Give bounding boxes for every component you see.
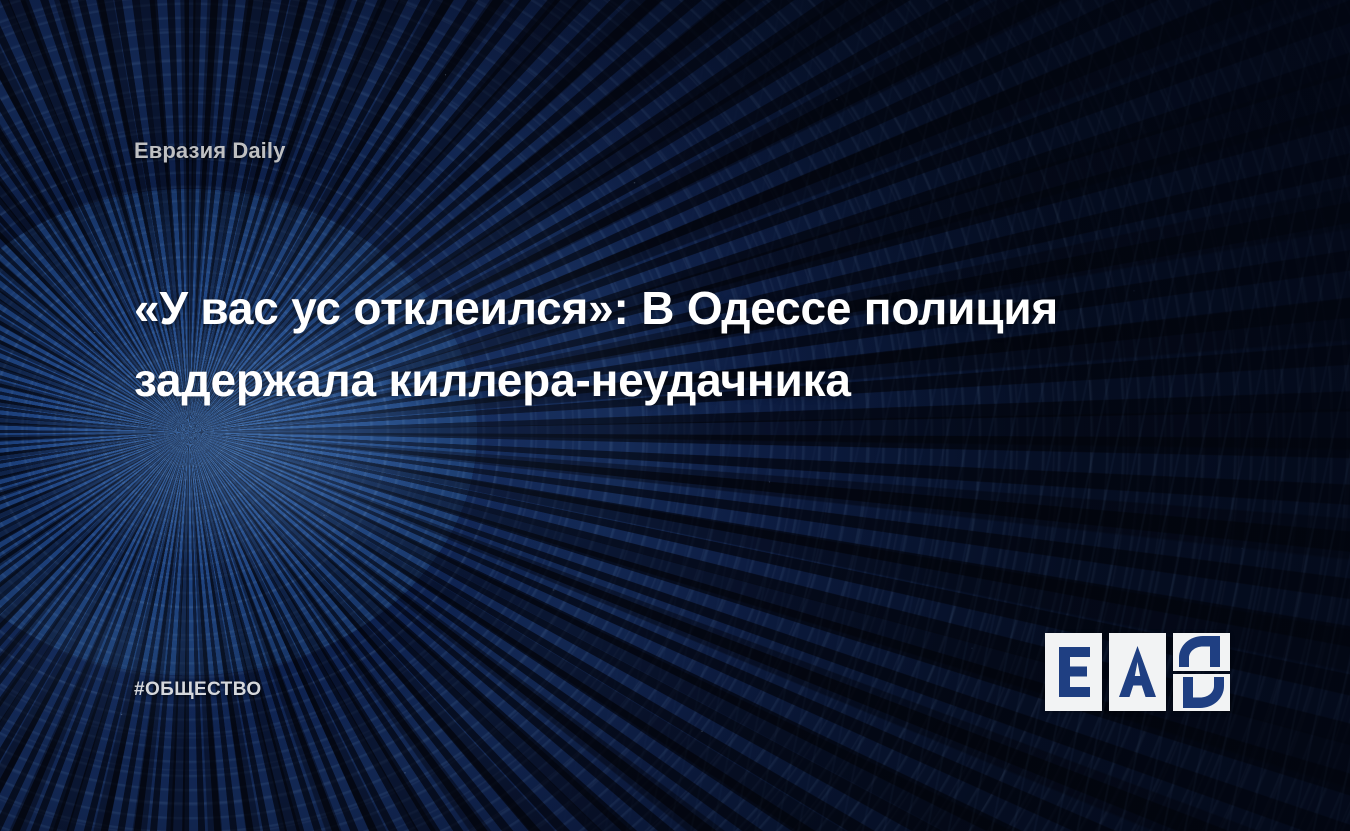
- letter-e-icon: [1045, 633, 1102, 711]
- letter-d-mirrored-icon: [1173, 633, 1230, 670]
- logo-tile-e: [1045, 633, 1102, 711]
- logo-tile-d-bottom: [1173, 674, 1230, 712]
- category-tag: #ОБЩЕСТВО: [134, 679, 262, 701]
- brand-name: Евразия Daily: [134, 138, 285, 164]
- news-card: Евразия Daily «У вас ус отклеился»: В Од…: [0, 0, 1350, 831]
- ead-logo: [1045, 633, 1230, 711]
- logo-tile-d-top: [1173, 633, 1230, 671]
- letter-d-rotated-icon: [1173, 674, 1230, 711]
- letter-a-icon: [1109, 633, 1166, 711]
- article-headline: «У вас ус отклеился»: В Одессе полиция з…: [134, 272, 1214, 416]
- logo-tile-d-stack: [1173, 633, 1230, 711]
- logo-tile-a: [1109, 633, 1166, 711]
